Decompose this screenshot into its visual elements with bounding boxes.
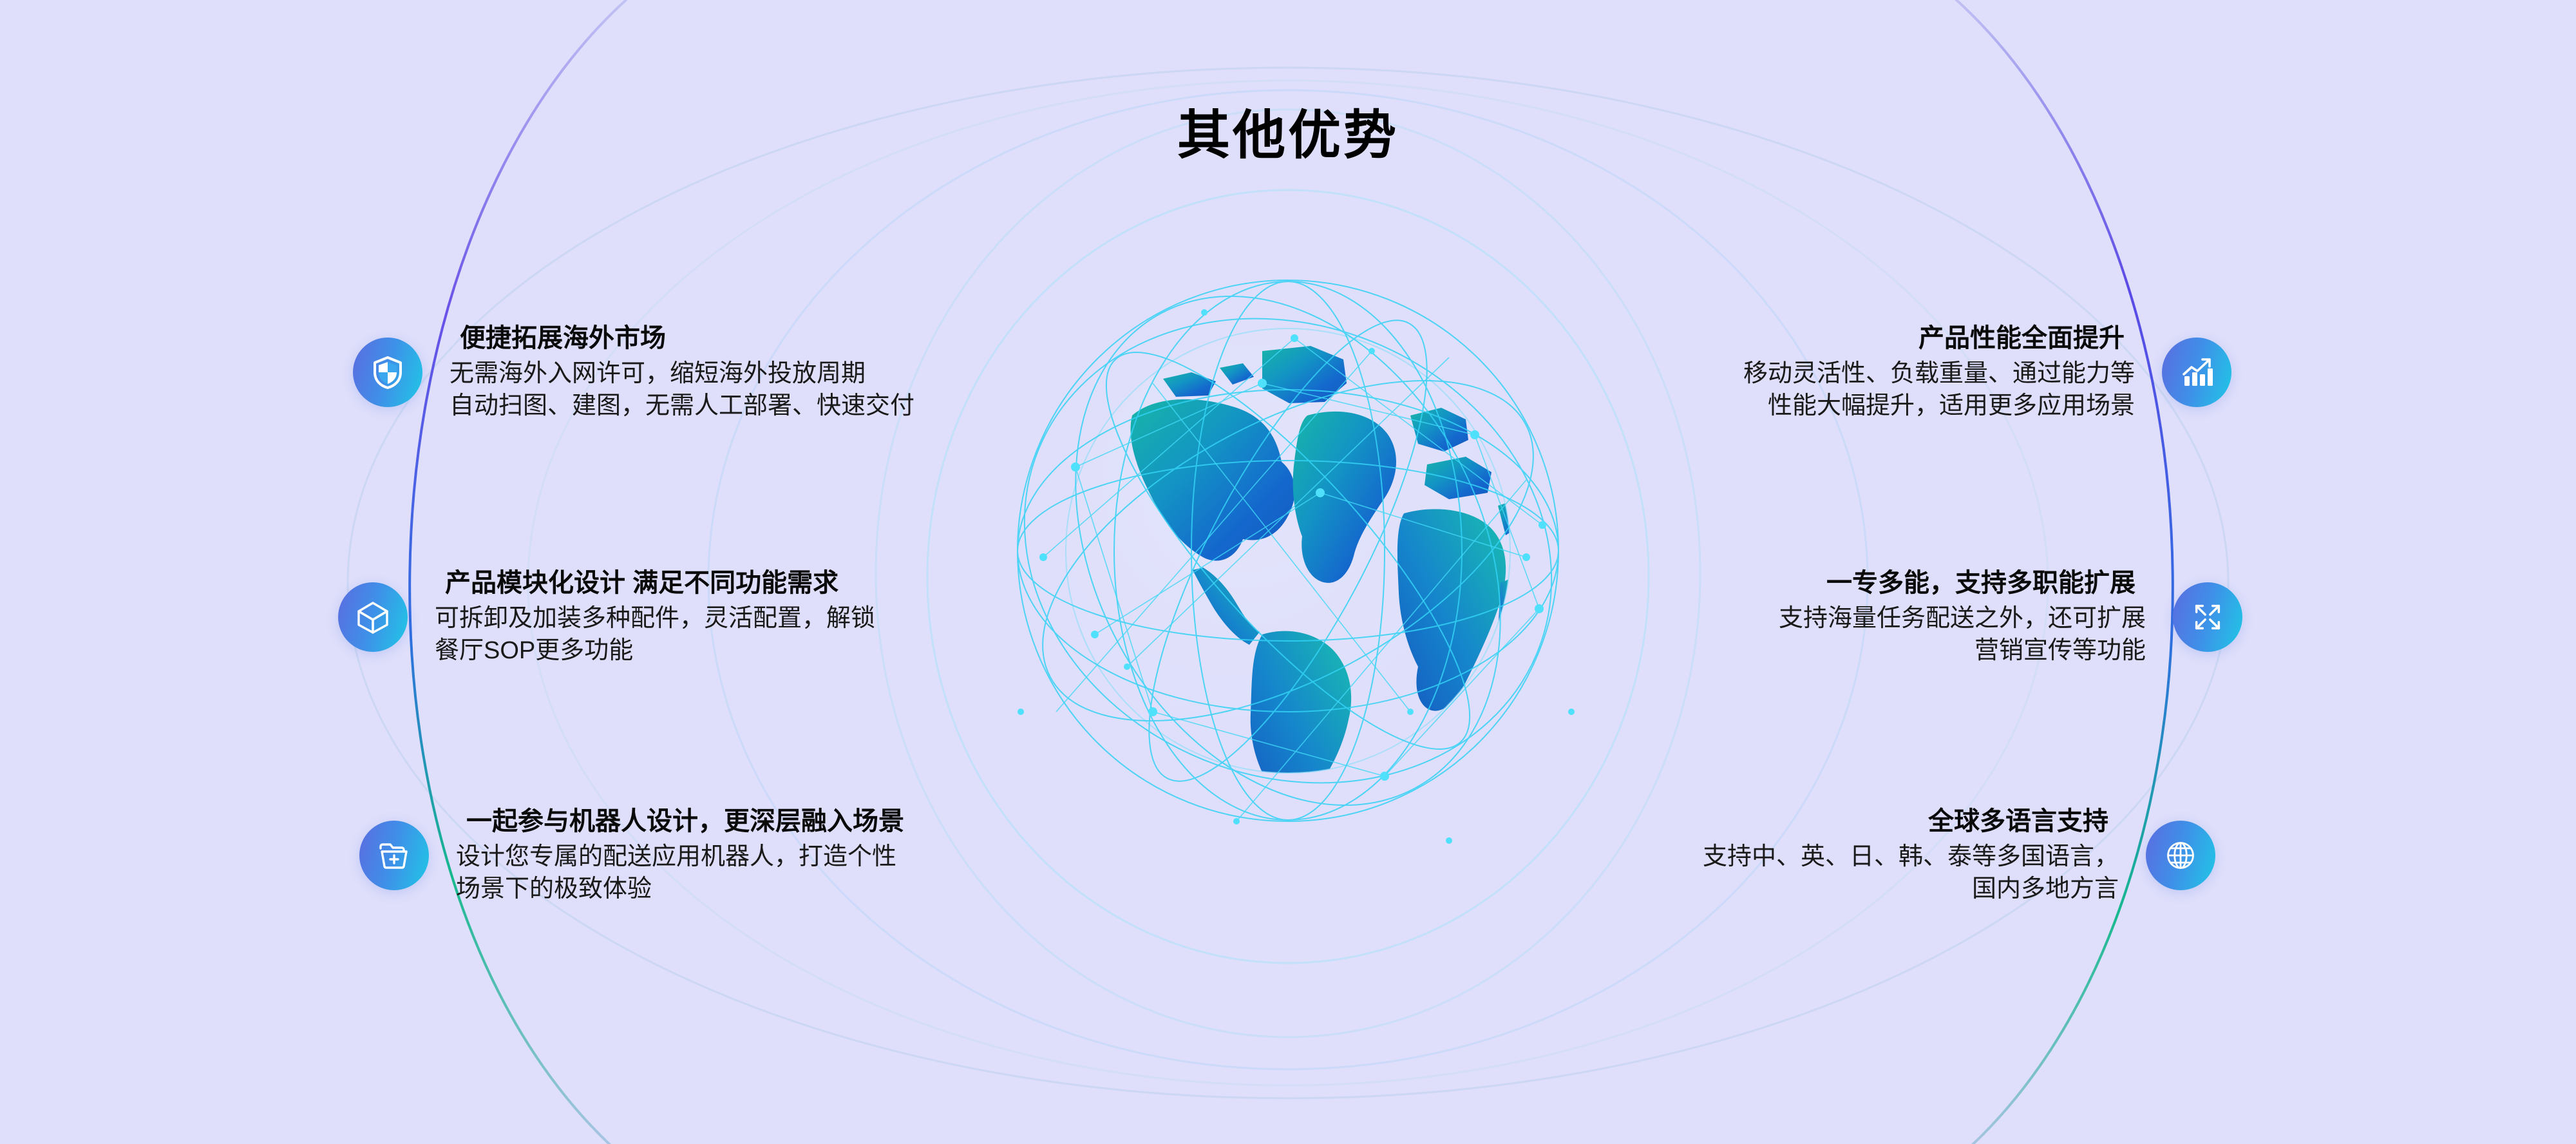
feature-title: 一专多能，支持多职能扩展 (1826, 567, 2146, 599)
feature-line: 国内多地方言 (1972, 873, 2119, 905)
feature-title: 便捷拓展海外市场 (450, 322, 666, 354)
feature-left-2[interactable]: 产品模块化设计 满足不同功能需求 可拆卸及加装多种配件，灵活配置，解锁 餐厅SO… (338, 567, 875, 667)
feature-line: 移动灵活性、负载重量、通过能力等 (1743, 358, 2135, 390)
globe-icon (2146, 821, 2215, 890)
feature-copy: 产品模块化设计 满足不同功能需求 可拆卸及加装多种配件，灵活配置，解锁 餐厅SO… (435, 567, 875, 667)
infographic-root: 其他优势 (0, 0, 2576, 1144)
feature-title: 全球多语言支持 (1928, 805, 2119, 837)
feature-copy: 便捷拓展海外市场 无需海外入网许可，缩短海外投放周期 自动扫图、建图，无需人工部… (450, 322, 914, 422)
feature-copy: 一起参与机器人设计，更深层融入场景 设计您专属的配送应用机器人，打造个性 场景下… (456, 805, 904, 905)
feature-line: 自动扫图、建图，无需人工部署、快速交付 (450, 390, 914, 422)
feature-left-1[interactable]: 便捷拓展海外市场 无需海外入网许可，缩短海外投放周期 自动扫图、建图，无需人工部… (353, 322, 914, 422)
feature-line: 无需海外入网许可，缩短海外投放周期 (450, 358, 866, 390)
chart-up-icon (2162, 338, 2231, 407)
feature-copy: 全球多语言支持 支持中、英、日、韩、泰等多国语言， 国内多地方言 (1703, 805, 2119, 905)
feature-line: 餐厅SOP更多功能 (435, 635, 633, 667)
page-title: 其他优势 (0, 110, 2576, 162)
feature-line: 性能大幅提升，适用更多应用场景 (1768, 390, 2135, 422)
folder-plus-icon (359, 821, 429, 890)
earth-network-globe (960, 222, 1616, 879)
feature-copy: 一专多能，支持多职能扩展 支持海量任务配送之外，还可扩展 营销宣传等功能 (1779, 567, 2146, 667)
feature-line: 设计您专属的配送应用机器人，打造个性 (456, 841, 896, 873)
feature-line: 营销宣传等功能 (1975, 635, 2146, 667)
feature-right-3[interactable]: 全球多语言支持 支持中、英、日、韩、泰等多国语言， 国内多地方言 (1703, 805, 2215, 905)
feature-right-1[interactable]: 产品性能全面提升 移动灵活性、负载重量、通过能力等 性能大幅提升，适用更多应用场… (1743, 322, 2231, 422)
expand-arrows-icon (2173, 582, 2242, 652)
cube-icon (338, 582, 408, 652)
feature-title: 一起参与机器人设计，更深层融入场景 (456, 805, 904, 837)
feature-line: 支持中、英、日、韩、泰等多国语言， (1703, 841, 2119, 873)
feature-title: 产品模块化设计 满足不同功能需求 (435, 567, 838, 599)
feature-right-2[interactable]: 一专多能，支持多职能扩展 支持海量任务配送之外，还可扩展 营销宣传等功能 (1779, 567, 2242, 667)
feature-left-3[interactable]: 一起参与机器人设计，更深层融入场景 设计您专属的配送应用机器人，打造个性 场景下… (359, 805, 904, 905)
feature-line: 场景下的极致体验 (456, 873, 652, 905)
shield-icon (353, 338, 422, 407)
feature-line: 支持海量任务配送之外，还可扩展 (1779, 603, 2146, 634)
feature-line: 可拆卸及加装多种配件，灵活配置，解锁 (435, 603, 875, 634)
feature-title: 产品性能全面提升 (1918, 322, 2135, 354)
feature-copy: 产品性能全面提升 移动灵活性、负载重量、通过能力等 性能大幅提升，适用更多应用场… (1743, 322, 2135, 422)
